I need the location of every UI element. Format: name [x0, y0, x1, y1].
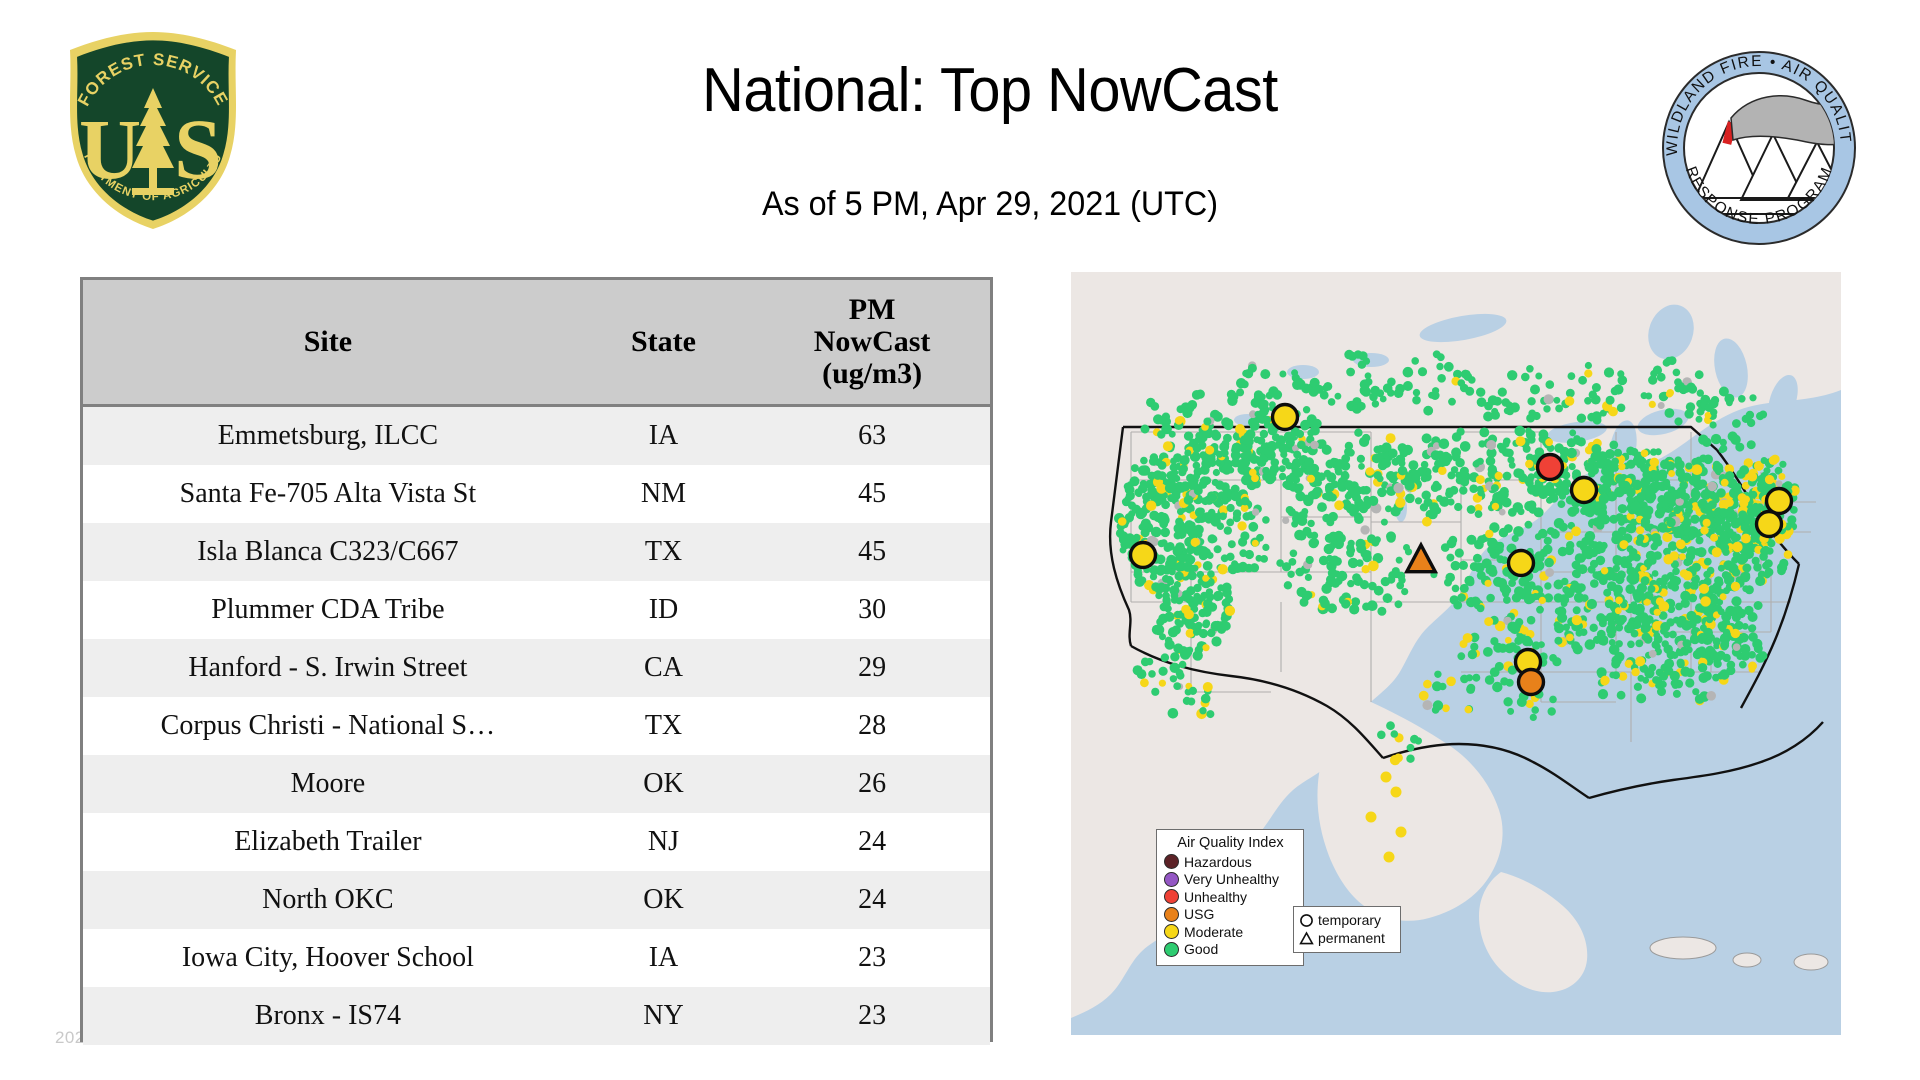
table-row: Hanford - S. Irwin StreetCA29: [83, 639, 990, 697]
column-header-pm-nowcast: PM NowCast (ug/m3): [754, 280, 990, 406]
monitor-dot: [1208, 534, 1217, 543]
monitor-dot: [1528, 473, 1535, 480]
cell-value: 63: [754, 406, 990, 466]
us-forest-service-logo: FOREST SERVICE DEPARTMENT OF AGRICULTURE…: [58, 28, 248, 233]
monitor-dot: [1731, 629, 1740, 638]
monitor-dot: [1464, 372, 1473, 381]
monitor-dot: [1670, 579, 1677, 586]
monitor-dot: [1315, 385, 1324, 394]
monitor-dot: [1596, 613, 1605, 622]
monitor-dot: [1749, 394, 1756, 401]
monitor-dot: [1584, 509, 1591, 516]
monitor-dot: [1730, 435, 1740, 445]
monitor-dot: [1377, 488, 1387, 498]
monitor-dot: [1213, 469, 1220, 476]
monitor-dot: [1203, 682, 1213, 692]
monitor-dot: [1239, 444, 1247, 452]
monitor-dot: [1660, 622, 1670, 632]
cell-state: NJ: [573, 813, 754, 871]
monitor-dot: [1225, 595, 1233, 603]
monitor-dot: [1626, 523, 1636, 533]
monitor-dot: [1130, 476, 1140, 486]
monitor-dot: [1510, 624, 1521, 635]
monitor-dot: [1477, 535, 1486, 544]
monitor-dot: [1543, 405, 1550, 412]
monitor-dot: [1486, 440, 1496, 450]
monitor-dot: [1386, 471, 1396, 481]
monitor-dot: [1506, 679, 1514, 687]
monitor-dot: [1433, 350, 1441, 358]
cell-state: TX: [573, 523, 754, 581]
monitor-dot: [1527, 397, 1535, 405]
monitor-dot: [1527, 616, 1536, 625]
aqi-legend-label: Unhealthy: [1184, 890, 1247, 904]
monitor-dot: [1598, 689, 1608, 699]
table-row: Bronx - IS74NY23: [83, 987, 990, 1045]
monitor-dot: [1681, 599, 1690, 608]
monitor-dot: [1226, 519, 1234, 527]
aqi-legend-title: Air Quality Index: [1164, 835, 1297, 851]
monitor-dot: [1752, 639, 1762, 649]
monitor-dot: [1649, 650, 1657, 658]
monitor-dot: [1513, 468, 1523, 478]
monitor-dot: [1611, 387, 1619, 395]
monitor-dot: [1159, 680, 1166, 687]
monitor-dot: [1173, 682, 1181, 690]
monitor-dot: [1396, 827, 1407, 838]
monitor-dot: [1499, 509, 1506, 516]
monitor-dot: [1437, 374, 1446, 383]
svg-text:U: U: [79, 101, 141, 197]
monitor-dot: [1554, 637, 1562, 645]
monitor-dot: [1388, 449, 1398, 459]
monitor-dot: [1493, 397, 1500, 404]
monitor-dot: [1642, 632, 1651, 641]
monitor-dot: [1476, 388, 1485, 397]
monitor-dot: [1618, 527, 1627, 536]
monitor-dot: [1739, 465, 1749, 475]
monitor-dot: [1568, 372, 1576, 380]
monitor-dot: [1662, 479, 1670, 487]
monitor-dot: [1776, 480, 1783, 487]
monitor-dot: [1688, 530, 1697, 539]
monitor-dot: [1460, 675, 1469, 684]
monitor-dot: [1165, 483, 1176, 494]
highlighted-site-marker[interactable]: Isla Blanca C323/C667 (TX): [1519, 670, 1544, 695]
monitor-dot: [1562, 471, 1570, 479]
monitor-dot: [1590, 624, 1598, 632]
monitor-dot: [1784, 550, 1793, 559]
monitor-dot: [1592, 383, 1601, 392]
monitor-dot: [1366, 812, 1377, 823]
monitor-dot: [1498, 644, 1507, 653]
cell-state: OK: [573, 871, 754, 929]
monitor-dot: [1473, 554, 1482, 563]
monitor-dot: [1337, 571, 1347, 581]
monitor-dot: [1544, 582, 1551, 589]
monitor-dot: [1422, 700, 1432, 710]
monitor-dot: [1593, 416, 1602, 425]
monitor-dot: [1748, 612, 1758, 622]
monitor-dot: [1635, 640, 1643, 648]
monitor-dot: [1486, 594, 1495, 603]
monitor-dot: [1173, 546, 1183, 556]
monitor-dot: [1189, 687, 1197, 695]
monitor-dot: [1479, 428, 1489, 438]
monitor-dot: [1218, 564, 1228, 574]
monitor-dot: [1405, 548, 1412, 555]
monitor-dot: [1636, 693, 1646, 703]
monitor-dot: [1184, 450, 1191, 457]
monitor-dot: [1695, 694, 1705, 704]
monitor-dot: [1755, 653, 1765, 663]
monitor-dot: [1170, 458, 1177, 465]
highlighted-site-marker[interactable]: Bronx - IS74 (NY): [1767, 489, 1792, 514]
monitor-dot: [1418, 367, 1427, 376]
table-row: Elizabeth TrailerNJ24: [83, 813, 990, 871]
monitor-dot: [1742, 623, 1749, 630]
monitor-dot: [1270, 464, 1279, 473]
monitor-dot: [1476, 475, 1485, 484]
monitor-dot: [1158, 461, 1167, 470]
monitor-dot: [1685, 463, 1692, 470]
monitor-dot: [1765, 568, 1774, 577]
monitor-dot: [1392, 458, 1400, 466]
air-quality-monitor-map[interactable]: Plummer CDA Tribe (ID)Emmetsburg, ILCC (…: [1071, 272, 1841, 1035]
monitor-dot: [1324, 470, 1331, 477]
monitor-dot: [1224, 526, 1232, 534]
monitor-dot: [1472, 674, 1480, 682]
monitor-dot: [1159, 513, 1169, 523]
monitor-dot: [1706, 691, 1716, 701]
monitor-dot: [1617, 570, 1626, 579]
monitor-dot: [1558, 547, 1568, 557]
monitor-dot: [1399, 448, 1408, 457]
monitor-dot: [1362, 553, 1371, 562]
monitor-dot: [1749, 624, 1757, 632]
monitor-dot: [1423, 680, 1432, 689]
monitor-dot: [1655, 682, 1662, 689]
cell-value: 24: [754, 813, 990, 871]
monitor-dot: [1706, 616, 1713, 623]
monitor-dot: [1162, 596, 1170, 604]
monitor-dot: [1654, 609, 1661, 616]
monitor-dot: [1188, 571, 1197, 580]
monitor-dot: [1606, 396, 1615, 405]
monitor-dot: [1679, 553, 1686, 560]
monitor-dot: [1164, 612, 1174, 622]
monitor-dot: [1609, 515, 1618, 524]
monitor-dot: [1495, 662, 1504, 671]
monitor-dot: [1526, 365, 1534, 373]
monitor-dot: [1173, 643, 1183, 653]
monitor-dot: [1272, 433, 1280, 441]
monitor-dot: [1167, 494, 1175, 502]
monitor-dot: [1664, 645, 1673, 654]
monitor-dot: [1302, 592, 1311, 601]
monitor-dot: [1740, 572, 1750, 582]
monitor-dot: [1432, 681, 1442, 691]
monitor-dot: [1585, 531, 1596, 542]
monitor-dot: [1139, 576, 1147, 584]
monitor-dot: [1202, 644, 1209, 651]
monitor-dot: [1718, 608, 1725, 615]
monitor-dot: [1227, 504, 1235, 512]
monitor-dot: [1149, 457, 1158, 466]
monitor-dot: [1366, 467, 1375, 476]
monitor-dot: [1605, 449, 1615, 459]
monitor-dot: [1664, 667, 1673, 676]
monitor-dot: [1387, 389, 1395, 397]
monitor-dot: [1383, 593, 1393, 603]
monitor-dot: [1535, 533, 1542, 540]
highlighted-site-marker[interactable]: North OKC (OK): [1509, 551, 1534, 576]
monitor-dot: [1165, 640, 1175, 650]
monitor-dot: [1549, 654, 1557, 662]
monitor-dot: [1595, 501, 1602, 508]
cell-site: Emmetsburg, ILCC: [83, 406, 573, 466]
monitor-dot: [1495, 472, 1503, 480]
monitor-dot: [1180, 455, 1190, 465]
cell-site: Iowa City, Hoover School: [83, 929, 573, 987]
aqi-swatch-icon: [1164, 854, 1179, 869]
monitor-dot: [1451, 466, 1458, 473]
monitor-dot: [1329, 494, 1337, 502]
monitor-dot: [1741, 524, 1748, 531]
monitor-dot: [1321, 584, 1331, 594]
monitor-dot: [1202, 575, 1209, 582]
monitor-dot: [1457, 428, 1465, 436]
monitor-dot: [1146, 501, 1156, 511]
monitor-dot: [1394, 388, 1404, 398]
monitor-dot: [1286, 438, 1295, 447]
monitor-dot: [1295, 379, 1306, 390]
monitor-dot: [1148, 487, 1157, 496]
monitor-dot: [1141, 520, 1148, 527]
monitor-dot: [1613, 555, 1623, 565]
monitor-dot: [1249, 469, 1257, 477]
monitor-dot: [1754, 601, 1763, 610]
monitor-dot: [1565, 396, 1575, 406]
monitor-dot: [1328, 398, 1336, 406]
monitor-dot: [1630, 501, 1640, 511]
monitor-dot: [1282, 517, 1289, 524]
monitor-dot: [1728, 576, 1735, 583]
monitor-dot: [1236, 388, 1244, 396]
monitor-dot: [1260, 446, 1269, 455]
monitor-dot: [1753, 563, 1762, 572]
monitor-dot: [1401, 588, 1408, 595]
monitor-dot: [1501, 398, 1510, 407]
monitor-dot: [1177, 508, 1184, 515]
highlighted-site-marker[interactable]: Plummer CDA Tribe (ID): [1273, 405, 1298, 430]
monitor-dot: [1539, 597, 1546, 604]
monitor-dot: [1554, 518, 1565, 529]
monitor-dot: [1485, 530, 1493, 538]
monitor-dot: [1272, 390, 1282, 400]
monitor-dot: [1202, 621, 1210, 629]
monitor-dot: [1658, 402, 1665, 409]
monitor-dot: [1386, 721, 1395, 730]
monitor-dot: [1384, 852, 1395, 863]
monitor-dot: [1424, 498, 1433, 507]
monitor-dot: [1450, 486, 1459, 495]
monitor-dot: [1633, 554, 1641, 562]
monitor-dot: [1413, 389, 1420, 396]
monitor-dot: [1323, 445, 1331, 453]
monitor-dot: [1722, 640, 1730, 648]
monitor-dot: [1525, 460, 1533, 468]
highlighted-site-marker[interactable]: Iowa City, Hoover School (IA): [1572, 478, 1597, 503]
highlighted-site-marker[interactable]: Emmetsburg, ILCC (IA): [1538, 455, 1563, 480]
monitor-dot: [1666, 391, 1673, 398]
monitor-dot: [1242, 435, 1252, 445]
monitor-dot: [1198, 609, 1206, 617]
highlighted-site-marker[interactable]: Elizabeth Trailer (NJ): [1757, 512, 1782, 537]
monitor-dot: [1615, 615, 1626, 626]
monitor-dot: [1297, 441, 1306, 450]
monitor-dot: [1508, 579, 1516, 587]
aqi-legend-row: Unhealthy: [1164, 888, 1297, 906]
monitor-dot: [1334, 500, 1344, 510]
monitor-dot: [1140, 678, 1149, 687]
monitor-dot: [1406, 755, 1414, 763]
monitor-dot: [1347, 550, 1354, 557]
monitor-dot: [1184, 431, 1193, 440]
monitor-dot: [1535, 373, 1542, 380]
monitor-dot: [1569, 429, 1576, 436]
monitor-dot: [1500, 487, 1509, 496]
monitor-dot: [1341, 471, 1349, 479]
monitor-dot: [1566, 634, 1574, 642]
monitor-dot: [1181, 605, 1190, 614]
monitor-dot: [1260, 555, 1268, 563]
monitor-dot: [1441, 457, 1451, 467]
monitor-dot: [1693, 479, 1703, 489]
monitor-dot: [1492, 682, 1502, 692]
monitor-dot: [1719, 508, 1728, 517]
monitor-dot: [1415, 497, 1422, 504]
monitor-dot: [1245, 564, 1254, 573]
monitor-dot: [1186, 546, 1195, 555]
monitor-dot: [1289, 558, 1297, 566]
monitor-dot: [1585, 639, 1596, 650]
monitor-dot: [1311, 539, 1319, 547]
monitor-dot: [1470, 597, 1480, 607]
monitor-dot: [1183, 697, 1191, 705]
monitor-dot: [1641, 392, 1648, 399]
monitor-dot: [1719, 531, 1729, 541]
monitor-dot: [1148, 670, 1156, 678]
monitor-dot: [1411, 357, 1419, 365]
monitor-dot: [1627, 567, 1636, 576]
monitor-dot: [1675, 468, 1685, 478]
monitor-dot: [1307, 532, 1314, 539]
monitor-dot: [1700, 526, 1708, 534]
monitor-dot: [1609, 644, 1620, 655]
monitor-dot: [1477, 486, 1484, 493]
monitor-dot: [1550, 529, 1558, 537]
monitor-dot: [1710, 421, 1717, 428]
monitor-dot: [1262, 516, 1270, 524]
monitor-dot: [1199, 546, 1209, 556]
monitor-dot: [1395, 498, 1405, 508]
cell-value: 45: [754, 523, 990, 581]
monitor-dot: [1710, 595, 1718, 603]
monitor-dot: [1248, 522, 1258, 532]
monitor-dot: [1557, 613, 1567, 623]
svg-text:S: S: [174, 101, 222, 197]
monitor-dot: [1636, 539, 1643, 546]
monitor-dot: [1434, 671, 1441, 678]
table-row: Corpus Christi - National S…TX28: [83, 697, 990, 755]
monitor-dot: [1686, 611, 1696, 621]
monitor-dot: [1221, 440, 1229, 448]
monitor-dot: [1317, 502, 1327, 512]
monitor-dot: [1244, 369, 1253, 378]
monitor-dot: [1710, 409, 1717, 416]
monitor-dot: [1387, 534, 1396, 543]
monitor-dot: [1358, 463, 1365, 470]
highlighted-site-marker[interactable]: Hanford - S. Irwin Street (CA): [1131, 543, 1156, 568]
monitor-dot: [1698, 435, 1708, 445]
monitor-dot: [1183, 562, 1193, 572]
monitor-dot: [1179, 464, 1188, 473]
monitor-dot: [1731, 483, 1740, 492]
monitor-dot: [1709, 492, 1717, 500]
aqi-legend-label: USG: [1184, 907, 1214, 921]
cell-value: 30: [754, 581, 990, 639]
monitor-dot: [1703, 571, 1711, 579]
monitor-dot: [1606, 613, 1615, 622]
column-header-site: Site: [83, 280, 573, 406]
monitor-dot: [1136, 490, 1143, 497]
monitor-dot: [1419, 691, 1429, 701]
monitor-dot: [1137, 669, 1147, 679]
monitor-dot: [1341, 461, 1350, 470]
monitor-dot: [1747, 419, 1755, 427]
monitor-dot: [1140, 457, 1148, 465]
monitor-dot: [1515, 426, 1526, 437]
monitor-dot: [1688, 549, 1695, 556]
monitor-dot: [1685, 678, 1694, 687]
monitor-dot: [1545, 568, 1554, 577]
monitor-dot: [1359, 486, 1368, 495]
monitor-dot: [1194, 486, 1203, 495]
monitor-dot: [1692, 464, 1703, 475]
monitor-dot: [1562, 586, 1569, 593]
monitor-dot: [1336, 534, 1346, 544]
monitor-dot: [1460, 584, 1469, 593]
monitor-dot: [1467, 684, 1476, 693]
monitor-dot: [1484, 617, 1493, 626]
monitor-dot: [1160, 528, 1170, 538]
cell-site: Corpus Christi - National S…: [83, 697, 573, 755]
monitor-dot: [1460, 441, 1471, 452]
monitor-dot: [1175, 562, 1184, 571]
monitor-dot: [1627, 545, 1634, 552]
monitor-dot: [1771, 455, 1780, 464]
monitor-dot: [1403, 367, 1414, 378]
monitor-dot: [1161, 500, 1170, 509]
monitor-dot: [1362, 603, 1370, 611]
monitor-dot: [1290, 550, 1298, 558]
monitor-dot: [1444, 579, 1452, 587]
monitor-dot: [1609, 441, 1618, 450]
monitor-dot: [1241, 498, 1249, 506]
monitor-dot: [1396, 582, 1404, 590]
monitor-dot: [1674, 417, 1682, 425]
